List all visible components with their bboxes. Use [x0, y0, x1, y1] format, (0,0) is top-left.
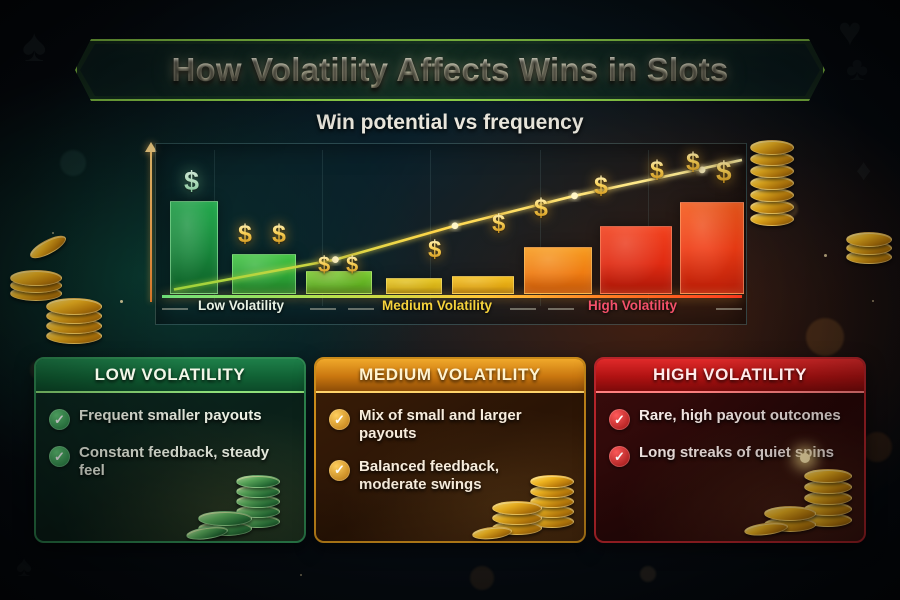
- card-title-low: LOW VOLATILITY: [95, 365, 246, 385]
- vignette-overlay: [0, 0, 900, 600]
- card-title-high: HIGH VOLATILITY: [653, 365, 807, 385]
- card-title-medium: MEDIUM VOLATILITY: [359, 365, 541, 385]
- infographic-canvas: ♠ ♥ ♣ ♦ ♠ How Volatility Affects Wins in…: [0, 0, 900, 600]
